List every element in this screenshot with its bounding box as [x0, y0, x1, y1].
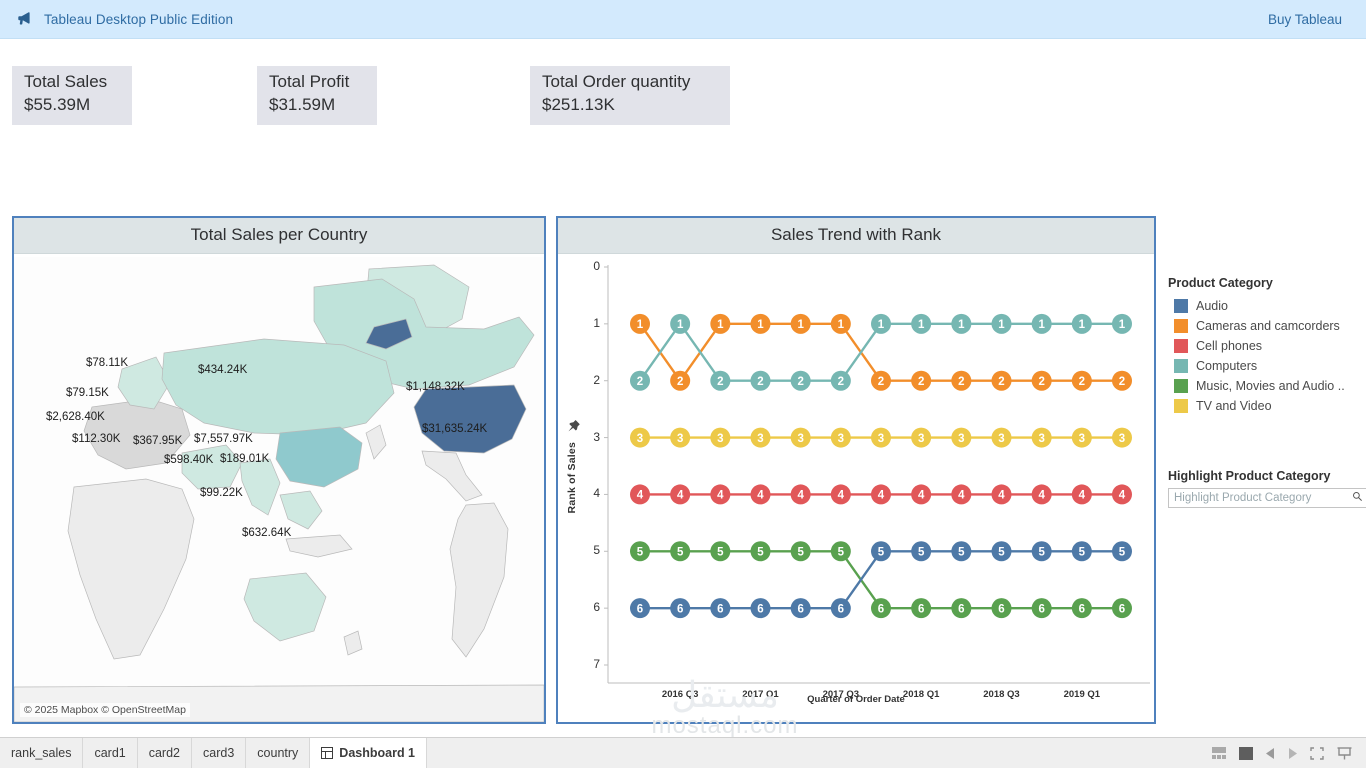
svg-text:2: 2	[998, 376, 1004, 388]
chart-rank-marker[interactable]: 6	[911, 598, 931, 618]
chart-rank-marker[interactable]: 2	[751, 371, 771, 391]
svg-text:4: 4	[918, 490, 925, 502]
kpi-title: Total Order quantity	[542, 71, 720, 93]
chart-rank-marker[interactable]: 3	[710, 428, 730, 448]
map-value-label: $78.11K	[86, 357, 128, 369]
chart-rank-marker[interactable]: 6	[951, 598, 971, 618]
map-value-label: $189.01K	[220, 453, 269, 465]
svg-text:4: 4	[1079, 490, 1086, 502]
chart-rank-marker[interactable]: 1	[791, 314, 811, 334]
svg-text:3: 3	[998, 433, 1004, 445]
sheet-tab-label: card1	[94, 746, 125, 760]
svg-text:1: 1	[1119, 319, 1126, 331]
svg-text:6: 6	[677, 603, 683, 615]
chart-rank-marker[interactable]: 2	[911, 371, 931, 391]
chart-rank-marker[interactable]: 5	[630, 541, 650, 561]
map-value-label: $632.64K	[242, 527, 291, 539]
svg-text:6: 6	[1038, 603, 1044, 615]
chart-rank-marker[interactable]: 5	[751, 541, 771, 561]
chart-rank-marker[interactable]: 6	[751, 598, 771, 618]
chart-rank-marker[interactable]: 4	[831, 484, 851, 504]
svg-text:1: 1	[677, 319, 684, 331]
svg-text:2: 2	[958, 376, 964, 388]
chart-rank-marker[interactable]: 3	[871, 428, 891, 448]
map-value-label: $367.95K	[133, 435, 182, 447]
chart-rank-marker[interactable]: 3	[670, 428, 690, 448]
map-attribution: © 2025 Mapbox © OpenStreetMap	[20, 703, 190, 717]
svg-text:1: 1	[838, 319, 845, 331]
map-value-label: $598.40K	[164, 454, 213, 466]
sheet-tab-rank-sales[interactable]: rank_sales	[0, 738, 83, 768]
legend-product-category: Product Category AudioCameras and camcor…	[1168, 276, 1366, 416]
chart-rank-marker[interactable]: 1	[710, 314, 730, 334]
svg-text:2: 2	[1038, 376, 1044, 388]
chart-rank-marker[interactable]: 4	[1072, 484, 1092, 504]
svg-text:1: 1	[958, 319, 965, 331]
chart-rank-marker[interactable]: 2	[670, 371, 690, 391]
chart-rank-marker[interactable]: 6	[710, 598, 730, 618]
svg-text:3: 3	[918, 433, 924, 445]
tabbar-tools[interactable]	[1212, 738, 1366, 768]
kpi-value: $55.39M	[24, 93, 122, 116]
chart-rank-marker[interactable]: 1	[951, 314, 971, 334]
legend-title: Product Category	[1168, 276, 1366, 290]
svg-text:3: 3	[1038, 433, 1044, 445]
svg-text:4: 4	[717, 490, 724, 502]
legend-color-swatch	[1174, 299, 1188, 313]
sheet-tab-label: Dashboard 1	[339, 746, 415, 760]
map-title: Total Sales per Country	[14, 218, 544, 254]
legend-color-swatch	[1174, 379, 1188, 393]
map-value-label: $112.30K	[72, 433, 120, 445]
chart-rank-marker[interactable]: 5	[791, 541, 811, 561]
sheet-tab-label: country	[257, 746, 298, 760]
chart-rank-marker[interactable]: 2	[871, 371, 891, 391]
chart-rank-marker[interactable]: 3	[951, 428, 971, 448]
chart-rank-marker[interactable]: 1	[751, 314, 771, 334]
sheet-tab-card1[interactable]: card1	[83, 738, 137, 768]
chart-title: Sales Trend with Rank	[558, 218, 1154, 254]
buy-tableau-link[interactable]: Buy Tableau	[1268, 12, 1342, 27]
kpi-card-total-sales: Total Sales $55.39M	[12, 66, 132, 125]
chart-rank-marker[interactable]: 6	[831, 598, 851, 618]
legend-item-label: Cell phones	[1196, 339, 1262, 353]
svg-text:5: 5	[1038, 546, 1045, 558]
svg-text:6: 6	[1119, 603, 1125, 615]
svg-text:6: 6	[958, 603, 964, 615]
svg-text:5: 5	[717, 546, 724, 558]
svg-text:1: 1	[878, 319, 885, 331]
chart-rank-marker[interactable]: 1	[1112, 314, 1132, 334]
svg-text:3: 3	[637, 433, 643, 445]
svg-text:1: 1	[1038, 319, 1045, 331]
chart-rank-marker[interactable]: 2	[630, 371, 650, 391]
kpi-value: $31.59M	[269, 93, 367, 116]
highlighter-title: Highlight Product Category	[1168, 469, 1331, 483]
svg-text:5: 5	[637, 546, 644, 558]
svg-text:5: 5	[757, 546, 764, 558]
chart-rank-marker[interactable]: 1	[831, 314, 851, 334]
svg-text:2: 2	[637, 376, 643, 388]
legend-item[interactable]: Cell phones	[1168, 336, 1366, 356]
svg-text:3: 3	[1079, 433, 1085, 445]
svg-text:5: 5	[878, 546, 885, 558]
chart-rank-marker[interactable]: 3	[1072, 428, 1092, 448]
svg-text:5: 5	[1079, 546, 1086, 558]
chart-rank-marker[interactable]: 4	[951, 484, 971, 504]
svg-text:6: 6	[838, 603, 844, 615]
app-titlebar: Tableau Desktop Public Edition Buy Table…	[0, 0, 1366, 39]
chart-rank-marker[interactable]: 4	[1032, 484, 1052, 504]
legend-item[interactable]: Audio	[1168, 296, 1366, 316]
chart-rank-marker[interactable]: 4	[871, 484, 891, 504]
sheet-tab-label: rank_sales	[11, 746, 71, 760]
map-worksheet-panel[interactable]: Total Sales per Country $78.11K$79.15K$2…	[12, 216, 546, 724]
legend-color-swatch	[1174, 359, 1188, 373]
chart-rank-marker[interactable]: 1	[911, 314, 931, 334]
chart-rank-marker[interactable]: 6	[670, 598, 690, 618]
sheet-tab-card3[interactable]: card3	[192, 738, 246, 768]
svg-text:6: 6	[717, 603, 723, 615]
legend-item-label: Music, Movies and Audio ..	[1196, 379, 1345, 393]
svg-text:4: 4	[1038, 490, 1045, 502]
svg-text:3: 3	[1119, 433, 1125, 445]
chart-rank-marker[interactable]: 5	[710, 541, 730, 561]
map-value-label: $99.22K	[200, 487, 243, 499]
svg-text:6: 6	[637, 603, 643, 615]
next-sheet-icon[interactable]	[1288, 748, 1297, 759]
highlight-product-category-box[interactable]	[1168, 488, 1366, 508]
chart-rank-marker[interactable]: 2	[1072, 371, 1092, 391]
prev-sheet-icon[interactable]	[1266, 748, 1275, 759]
sheet-tab-label: card2	[149, 746, 180, 760]
svg-text:6: 6	[878, 603, 884, 615]
svg-text:2: 2	[878, 376, 884, 388]
svg-text:6: 6	[797, 603, 803, 615]
chart-rank-marker[interactable]: 5	[1032, 541, 1052, 561]
chart-rank-marker[interactable]: 6	[630, 598, 650, 618]
svg-text:5: 5	[918, 546, 925, 558]
svg-text:4: 4	[797, 490, 804, 502]
chart-rank-marker[interactable]: 3	[1112, 428, 1132, 448]
chart-rank-marker[interactable]: 4	[670, 484, 690, 504]
chart-rank-marker[interactable]: 5	[1072, 541, 1092, 561]
chart-rank-marker[interactable]: 5	[951, 541, 971, 561]
svg-text:3: 3	[797, 433, 803, 445]
chart-rank-marker[interactable]: 1	[992, 314, 1012, 334]
legend-item-label: TV and Video	[1196, 399, 1272, 413]
dashboard-icon	[321, 747, 333, 759]
svg-text:3: 3	[838, 433, 844, 445]
chart-rank-marker[interactable]: 2	[831, 371, 851, 391]
chart-rank-marker[interactable]: 1	[630, 314, 650, 334]
world-map-graphic	[14, 257, 544, 722]
map-value-label: $31,635.24K	[422, 423, 487, 435]
chart-rank-marker[interactable]: 2	[1112, 371, 1132, 391]
svg-text:1: 1	[797, 319, 804, 331]
map-value-label: $434.24K	[198, 364, 247, 376]
search-icon[interactable]	[1352, 489, 1363, 507]
svg-text:2: 2	[918, 376, 924, 388]
kpi-card-total-profit: Total Profit $31.59M	[257, 66, 377, 125]
svg-text:4: 4	[757, 490, 764, 502]
chart-rank-marker[interactable]: 6	[992, 598, 1012, 618]
kpi-value: $251.13K	[542, 93, 720, 116]
svg-text:6: 6	[918, 603, 924, 615]
svg-text:5: 5	[677, 546, 684, 558]
sheet-tabbar[interactable]: rank_salescard1card2card3countryDashboar…	[0, 737, 1366, 768]
chart-rank-marker[interactable]: 6	[1112, 598, 1132, 618]
chart-rank-marker[interactable]: 6	[1072, 598, 1092, 618]
svg-text:3: 3	[757, 433, 763, 445]
rank-line-chart-graphic[interactable]: 1211112222222212222111111133333333333334…	[558, 257, 1154, 722]
chart-rank-marker[interactable]: 2	[710, 371, 730, 391]
legend-item[interactable]: Computers	[1168, 356, 1366, 376]
legend-color-swatch	[1174, 339, 1188, 353]
chart-rank-marker[interactable]: 1	[871, 314, 891, 334]
legend-item-label: Audio	[1196, 299, 1228, 313]
chart-canvas[interactable]: Rank of Sales 01234567 12111122222222122…	[558, 257, 1154, 722]
chart-rank-marker[interactable]: 3	[751, 428, 771, 448]
chart-rank-marker[interactable]: 6	[791, 598, 811, 618]
fit-icon[interactable]	[1310, 747, 1324, 760]
map-value-label: $1,148.32K	[406, 381, 465, 393]
tabbar-spacer	[427, 738, 1212, 768]
presentation-mode-icon[interactable]	[1337, 747, 1352, 760]
svg-text:1: 1	[1079, 319, 1086, 331]
chart-rank-marker[interactable]: 4	[751, 484, 771, 504]
chart-rank-marker[interactable]: 2	[1032, 371, 1052, 391]
svg-text:6: 6	[998, 603, 1004, 615]
chart-rank-marker[interactable]: 4	[1112, 484, 1132, 504]
chart-rank-marker[interactable]: 4	[630, 484, 650, 504]
sheet-tabs[interactable]: rank_salescard1card2card3countryDashboar…	[0, 738, 427, 768]
legend-item-label: Computers	[1196, 359, 1257, 373]
svg-text:1: 1	[637, 319, 644, 331]
svg-text:2: 2	[838, 376, 844, 388]
chart-rank-marker[interactable]: 1	[1032, 314, 1052, 334]
chart-rank-marker[interactable]: 3	[992, 428, 1012, 448]
map-value-label: $7,557.97K	[194, 433, 253, 445]
svg-text:4: 4	[998, 490, 1005, 502]
sheet-tab-dashboard-1[interactable]: Dashboard 1	[310, 738, 427, 768]
chart-x-axis-title: Quarter of Order Date	[558, 694, 1154, 705]
sheet-thumbnail-icon[interactable]	[1212, 747, 1226, 759]
svg-text:4: 4	[677, 490, 684, 502]
app-title: Tableau Desktop Public Edition	[44, 12, 233, 27]
legend-item[interactable]: Cameras and camcorders	[1168, 316, 1366, 336]
chart-rank-marker[interactable]: 5	[911, 541, 931, 561]
chart-rank-marker[interactable]: 5	[1112, 541, 1132, 561]
chart-rank-marker[interactable]: 1	[670, 314, 690, 334]
svg-text:4: 4	[1119, 490, 1126, 502]
svg-text:6: 6	[757, 603, 763, 615]
legend-item-label: Cameras and camcorders	[1196, 319, 1340, 333]
chart-rank-marker[interactable]: 4	[911, 484, 931, 504]
svg-text:1: 1	[717, 319, 724, 331]
chart-rank-marker[interactable]: 4	[791, 484, 811, 504]
map-canvas[interactable]: $78.11K$79.15K$2,628.40K$112.30K$367.95K…	[14, 257, 544, 722]
kpi-title: Total Sales	[24, 71, 122, 93]
svg-text:2: 2	[677, 376, 683, 388]
chart-rank-marker[interactable]: 3	[791, 428, 811, 448]
legend-item[interactable]: TV and Video	[1168, 396, 1366, 416]
sheet-tab-label: card3	[203, 746, 234, 760]
svg-text:4: 4	[958, 490, 965, 502]
legend-color-swatch	[1174, 319, 1188, 333]
svg-text:2: 2	[1119, 376, 1125, 388]
svg-text:5: 5	[958, 546, 965, 558]
chart-rank-marker[interactable]: 6	[871, 598, 891, 618]
sheet-tab-card2[interactable]: card2	[138, 738, 192, 768]
chart-rank-marker[interactable]: 4	[992, 484, 1012, 504]
svg-text:3: 3	[878, 433, 884, 445]
chart-rank-marker[interactable]: 2	[951, 371, 971, 391]
legend-item[interactable]: Music, Movies and Audio ..	[1168, 376, 1366, 396]
svg-text:3: 3	[677, 433, 683, 445]
svg-text:2: 2	[1079, 376, 1085, 388]
chart-rank-marker[interactable]: 5	[670, 541, 690, 561]
legend-items[interactable]: AudioCameras and camcordersCell phonesCo…	[1168, 296, 1366, 416]
sheet-tab-country[interactable]: country	[246, 738, 310, 768]
svg-text:1: 1	[918, 319, 925, 331]
filmstrip-icon[interactable]	[1239, 747, 1253, 760]
svg-text:4: 4	[637, 490, 644, 502]
chart-rank-marker[interactable]: 3	[831, 428, 851, 448]
svg-text:2: 2	[797, 376, 803, 388]
svg-text:5: 5	[797, 546, 804, 558]
svg-text:1: 1	[757, 319, 764, 331]
kpi-card-total-order-quantity: Total Order quantity $251.13K	[530, 66, 730, 125]
map-value-label: $2,628.40K	[46, 411, 105, 423]
svg-text:2: 2	[717, 376, 723, 388]
chart-rank-marker[interactable]: 2	[992, 371, 1012, 391]
chart-rank-marker[interactable]: 3	[1032, 428, 1052, 448]
svg-text:3: 3	[958, 433, 964, 445]
svg-text:3: 3	[717, 433, 723, 445]
chart-rank-marker[interactable]: 5	[871, 541, 891, 561]
chart-worksheet-panel[interactable]: Sales Trend with Rank Rank of Sales 0123…	[556, 216, 1156, 724]
svg-text:5: 5	[998, 546, 1005, 558]
chart-rank-marker[interactable]: 1	[1072, 314, 1092, 334]
chart-rank-marker[interactable]: 3	[630, 428, 650, 448]
chart-rank-marker[interactable]: 5	[831, 541, 851, 561]
svg-text:4: 4	[878, 490, 885, 502]
megaphone-icon[interactable]	[16, 10, 34, 28]
kpi-title: Total Profit	[269, 71, 367, 93]
legend-color-swatch	[1174, 399, 1188, 413]
map-value-label: $79.15K	[66, 387, 109, 399]
chart-rank-marker[interactable]: 4	[710, 484, 730, 504]
svg-text:5: 5	[1119, 546, 1126, 558]
svg-text:6: 6	[1079, 603, 1085, 615]
chart-rank-marker[interactable]: 2	[791, 371, 811, 391]
chart-rank-marker[interactable]: 6	[1032, 598, 1052, 618]
svg-text:4: 4	[838, 490, 845, 502]
chart-rank-marker[interactable]: 5	[992, 541, 1012, 561]
svg-text:5: 5	[838, 546, 845, 558]
chart-rank-marker[interactable]: 3	[911, 428, 931, 448]
svg-text:2: 2	[757, 376, 763, 388]
svg-text:1: 1	[998, 319, 1005, 331]
highlight-product-category-input[interactable]	[1169, 492, 1352, 504]
